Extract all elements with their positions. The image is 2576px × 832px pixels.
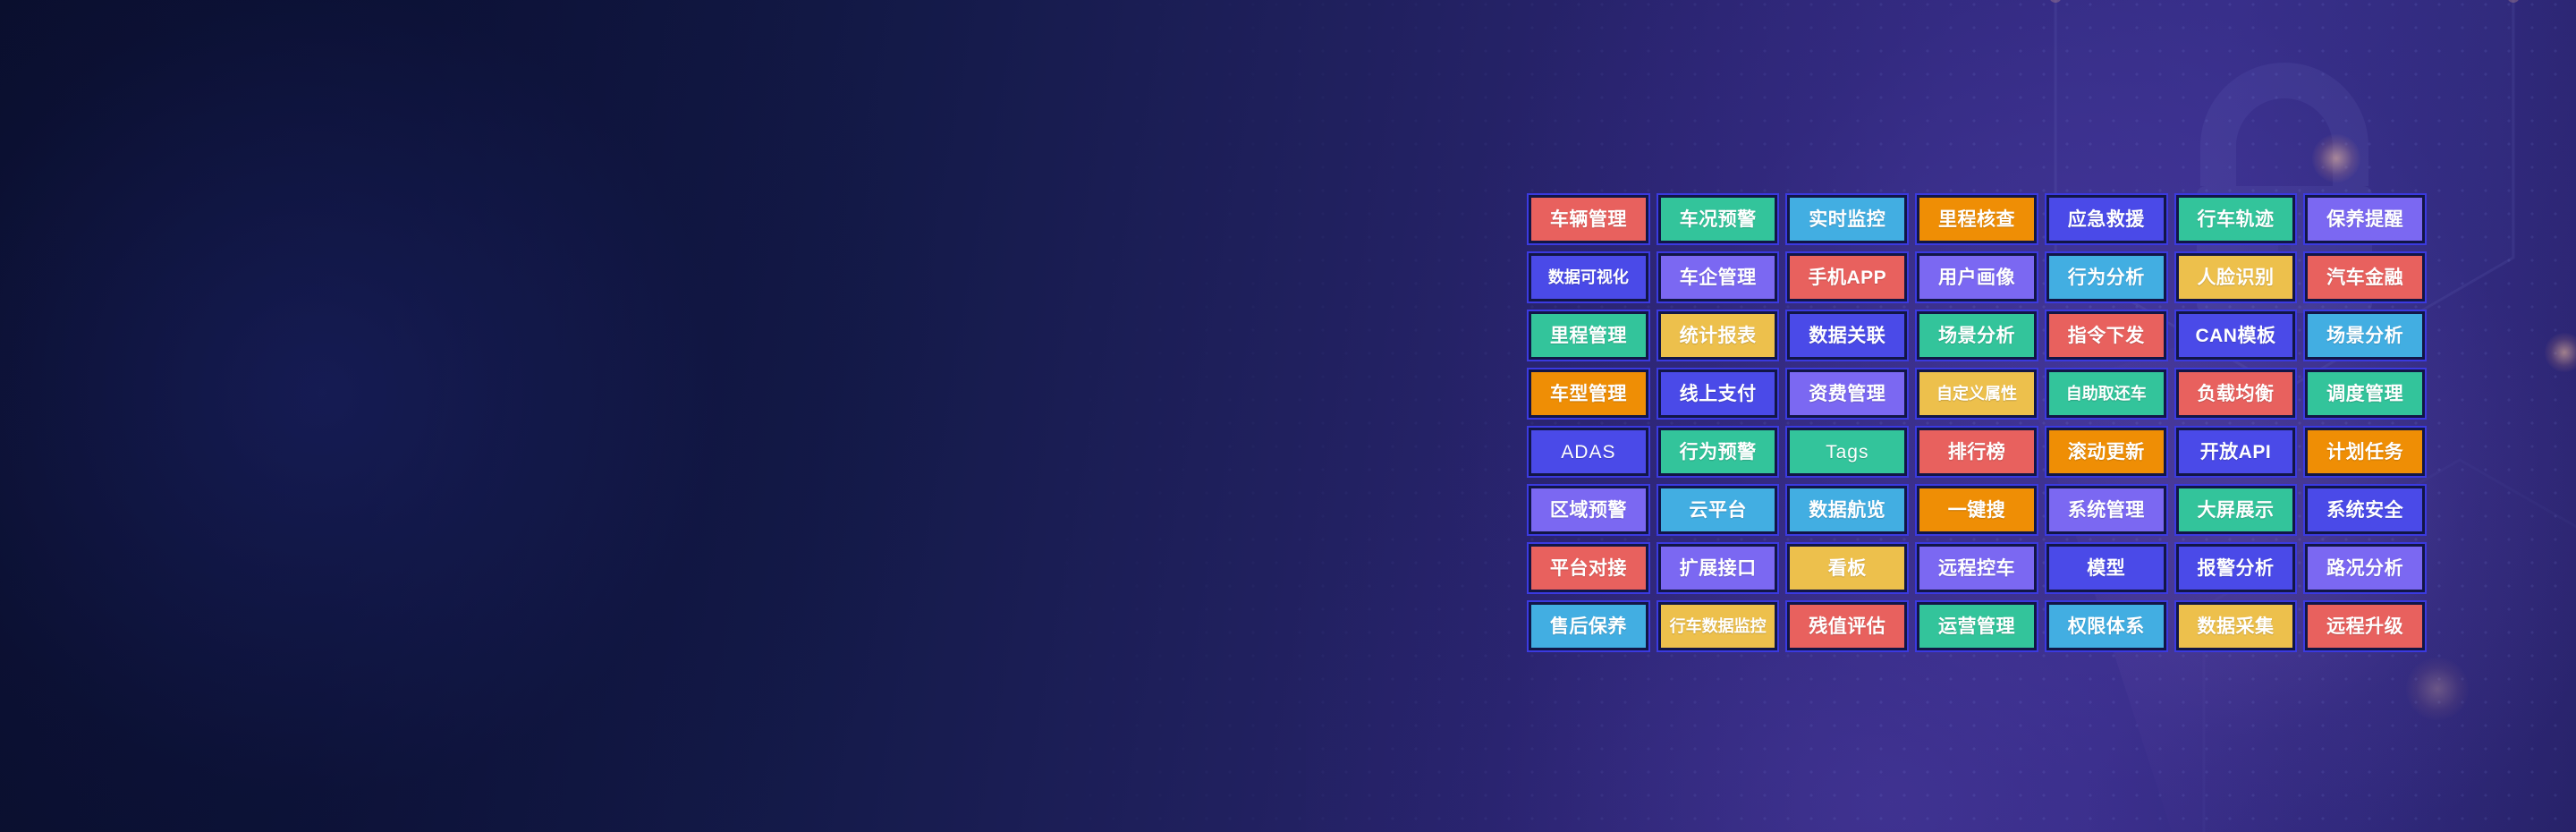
tag-chip-fill: 区域预警 xyxy=(1531,488,1646,531)
tag-row: 售后保养行车数据监控残值评估运营管理权限体系数据采集远程升级 xyxy=(1527,600,2427,652)
tag-chip-label: 应急救援 xyxy=(2068,210,2145,229)
tag-chip-fill: 行为分析 xyxy=(2049,256,2164,299)
tag-chip[interactable]: 手机APP xyxy=(1785,251,1909,303)
tag-chip-label: 里程管理 xyxy=(1550,327,1627,345)
tag-chip-fill: 指令下发 xyxy=(2049,314,2164,357)
tag-chip-fill: 自助取还车 xyxy=(2049,372,2164,415)
tag-chip-label: 报警分析 xyxy=(2197,559,2274,578)
tag-chip[interactable]: 场景分析 xyxy=(2303,310,2427,361)
tag-chip-fill: 里程管理 xyxy=(1531,314,1646,357)
tag-chip[interactable]: 售后保养 xyxy=(1527,600,1650,652)
tag-chip-fill: 车辆管理 xyxy=(1531,198,1646,241)
tag-chip[interactable]: 里程管理 xyxy=(1527,310,1650,361)
tag-chip-label: 路况分析 xyxy=(2326,559,2403,578)
tag-chip[interactable]: 行为预警 xyxy=(1657,426,1780,478)
tag-chip-label: 行车数据监控 xyxy=(1670,618,1767,634)
tag-chip-label: 指令下发 xyxy=(2068,327,2145,345)
tag-chip-label: 线上支付 xyxy=(1680,385,1757,403)
tag-grid: 车辆管理车况预警实时监控里程核查应急救援行车轨迹保养提醒数据可视化车企管理手机A… xyxy=(1527,193,2427,652)
tag-chip-fill: 权限体系 xyxy=(2049,605,2164,648)
tag-chip-fill: 用户画像 xyxy=(1919,256,2034,299)
tag-chip-label: 售后保养 xyxy=(1550,617,1627,636)
tag-chip-label: 行车轨迹 xyxy=(2197,210,2274,229)
tag-chip-fill: 残值评估 xyxy=(1790,605,1904,648)
tag-chip[interactable]: 负载均衡 xyxy=(2174,368,2298,420)
tag-chip-fill: 数据关联 xyxy=(1790,314,1904,357)
tag-chip[interactable]: 扩展接口 xyxy=(1657,542,1780,594)
tag-chip-fill: 车况预警 xyxy=(1661,198,1775,241)
tag-chip-label: 资费管理 xyxy=(1809,385,1885,403)
tag-chip[interactable]: 计划任务 xyxy=(2303,426,2427,478)
tag-chip[interactable]: 应急救援 xyxy=(2045,193,2168,245)
tag-chip-fill: 路况分析 xyxy=(2308,547,2422,590)
tag-chip-fill: 滚动更新 xyxy=(2049,430,2164,473)
tag-chip-label: 看板 xyxy=(1828,559,1867,578)
tag-chip-fill: 统计报表 xyxy=(1661,314,1775,357)
tag-chip-fill: 场景分析 xyxy=(2308,314,2422,357)
tag-row: 里程管理统计报表数据关联场景分析指令下发CAN模板场景分析 xyxy=(1527,310,2427,361)
tag-chip[interactable]: 自定义属性 xyxy=(1915,368,2038,420)
tag-chip-label: 计划任务 xyxy=(2326,443,2403,462)
tag-chip[interactable]: 残值评估 xyxy=(1785,600,1909,652)
tag-chip[interactable]: 看板 xyxy=(1785,542,1909,594)
tag-chip-fill: 汽车金融 xyxy=(2308,256,2422,299)
tag-chip-fill: CAN模板 xyxy=(2179,314,2293,357)
tag-chip-label: 实时监控 xyxy=(1809,210,1885,229)
tag-chip[interactable]: 开放API xyxy=(2174,426,2298,478)
tag-chip-fill: 远程升级 xyxy=(2308,605,2422,648)
tag-chip-label: 人脸识别 xyxy=(2197,268,2274,287)
tag-chip[interactable]: 人脸识别 xyxy=(2174,251,2298,303)
tag-chip-fill: 行为预警 xyxy=(1661,430,1775,473)
tag-chip[interactable]: 数据可视化 xyxy=(1527,251,1650,303)
tag-chip[interactable]: 指令下发 xyxy=(2045,310,2168,361)
tag-chip-label: 系统安全 xyxy=(2326,501,2403,520)
tag-chip-fill: Tags xyxy=(1790,430,1904,473)
tag-chip[interactable]: 用户画像 xyxy=(1915,251,2038,303)
tag-chip-label: 残值评估 xyxy=(1809,617,1885,636)
tag-chip-label: 运营管理 xyxy=(1938,617,2015,636)
tag-chip-label: 数据采集 xyxy=(2197,617,2274,636)
tag-chip[interactable]: 里程核查 xyxy=(1915,193,2038,245)
tag-chip-fill: 调度管理 xyxy=(2308,372,2422,415)
tag-chip[interactable]: 实时监控 xyxy=(1785,193,1909,245)
tag-chip[interactable]: 场景分析 xyxy=(1915,310,2038,361)
tag-chip-label: 行为分析 xyxy=(2068,268,2145,287)
tag-chip-label: 开放API xyxy=(2200,443,2272,462)
tag-chip-fill: 远程控车 xyxy=(1919,547,2034,590)
tag-chip-label: 权限体系 xyxy=(2068,617,2145,636)
tag-chip-label: ADAS xyxy=(1561,443,1615,462)
tag-chip-label: 排行榜 xyxy=(1948,443,2006,462)
tag-chip-fill: 看板 xyxy=(1790,547,1904,590)
tag-chip[interactable]: 保养提醒 xyxy=(2303,193,2427,245)
tag-chip-label: 数据关联 xyxy=(1809,327,1885,345)
tag-chip-label: 平台对接 xyxy=(1550,559,1627,578)
tag-chip-fill: 应急救援 xyxy=(2049,198,2164,241)
tag-chip-fill: 行车数据监控 xyxy=(1661,605,1775,648)
tag-row: 车型管理线上支付资费管理自定义属性自助取还车负载均衡调度管理 xyxy=(1527,368,2427,420)
tag-chip-fill: 开放API xyxy=(2179,430,2293,473)
tag-chip-label: CAN模板 xyxy=(2195,327,2275,345)
tag-chip[interactable]: 大屏展示 xyxy=(2174,484,2298,536)
tag-row: 区域预警云平台数据航览一键搜系统管理大屏展示系统安全 xyxy=(1527,484,2427,536)
tag-chip-label: 远程控车 xyxy=(1938,559,2015,578)
tag-chip[interactable]: 路况分析 xyxy=(2303,542,2427,594)
tag-chip[interactable]: 远程控车 xyxy=(1915,542,2038,594)
tag-chip-fill: 保养提醒 xyxy=(2308,198,2422,241)
tag-chip-fill: 实时监控 xyxy=(1790,198,1904,241)
tag-chip-fill: 报警分析 xyxy=(2179,547,2293,590)
tag-chip[interactable]: 模型 xyxy=(2045,542,2168,594)
tag-chip-fill: 计划任务 xyxy=(2308,430,2422,473)
tag-chip-label: 车企管理 xyxy=(1680,268,1757,287)
tag-chip-label: 远程升级 xyxy=(2326,617,2403,636)
tag-chip[interactable]: 区域预警 xyxy=(1527,484,1650,536)
tag-chip[interactable]: 平台对接 xyxy=(1527,542,1650,594)
tag-chip[interactable]: ADAS xyxy=(1527,426,1650,478)
tag-chip[interactable]: Tags xyxy=(1785,426,1909,478)
tag-chip-label: 场景分析 xyxy=(2326,327,2403,345)
tag-chip[interactable]: 云平台 xyxy=(1657,484,1780,536)
tag-chip-label: 系统管理 xyxy=(2068,501,2145,520)
background-spark-c xyxy=(2406,658,2469,720)
tag-chip-fill: 一键搜 xyxy=(1919,488,2034,531)
tag-chip-fill: 扩展接口 xyxy=(1661,547,1775,590)
tag-chip-label: 里程核查 xyxy=(1938,210,2015,229)
tag-chip-fill: 系统安全 xyxy=(2308,488,2422,531)
tag-chip-label: 汽车金融 xyxy=(2326,268,2403,287)
tag-chip[interactable]: 行为分析 xyxy=(2045,251,2168,303)
tag-chip[interactable]: 数据航览 xyxy=(1785,484,1909,536)
tag-chip-fill: 人脸识别 xyxy=(2179,256,2293,299)
tag-chip-label: Tags xyxy=(1826,443,1868,462)
tag-chip-fill: 资费管理 xyxy=(1790,372,1904,415)
tag-chip[interactable]: 汽车金融 xyxy=(2303,251,2427,303)
tag-chip-fill: 车企管理 xyxy=(1661,256,1775,299)
tag-chip[interactable]: 滚动更新 xyxy=(2045,426,2168,478)
tag-chip[interactable]: 运营管理 xyxy=(1915,600,2038,652)
tag-chip-fill: 数据航览 xyxy=(1790,488,1904,531)
tag-chip[interactable]: 排行榜 xyxy=(1915,426,2038,478)
tag-chip[interactable]: 系统管理 xyxy=(2045,484,2168,536)
tag-chip-label: 调度管理 xyxy=(2326,385,2403,403)
tag-chip-fill: 行车轨迹 xyxy=(2179,198,2293,241)
tag-chip-label: 数据航览 xyxy=(1809,501,1885,520)
tag-chip[interactable]: 车况预警 xyxy=(1657,193,1780,245)
tag-chip[interactable]: 资费管理 xyxy=(1785,368,1909,420)
tag-chip-fill: 负载均衡 xyxy=(2179,372,2293,415)
tag-chip-fill: 排行榜 xyxy=(1919,430,2034,473)
background-glow-left xyxy=(0,0,948,832)
tag-chip-label: 车辆管理 xyxy=(1550,210,1627,229)
tag-chip-label: 区域预警 xyxy=(1550,501,1627,520)
tag-chip[interactable]: 远程升级 xyxy=(2303,600,2427,652)
tag-chip[interactable]: 系统安全 xyxy=(2303,484,2427,536)
tag-chip-label: 云平台 xyxy=(1689,501,1747,520)
tag-row: 数据可视化车企管理手机APP用户画像行为分析人脸识别汽车金融 xyxy=(1527,251,2427,303)
tag-chip[interactable]: CAN模板 xyxy=(2174,310,2298,361)
tag-chip-fill: 自定义属性 xyxy=(1919,372,2034,415)
tag-chip-fill: 线上支付 xyxy=(1661,372,1775,415)
tag-chip-fill: ADAS xyxy=(1531,430,1646,473)
tag-chip[interactable]: 权限体系 xyxy=(2045,600,2168,652)
tag-chip-fill: 云平台 xyxy=(1661,488,1775,531)
tag-chip-fill: 场景分析 xyxy=(1919,314,2034,357)
tag-chip-fill: 大屏展示 xyxy=(2179,488,2293,531)
tag-chip-label: 场景分析 xyxy=(1938,327,2015,345)
tag-chip[interactable]: 车辆管理 xyxy=(1527,193,1650,245)
tag-chip-label: 滚动更新 xyxy=(2068,443,2145,462)
tag-chip-fill: 平台对接 xyxy=(1531,547,1646,590)
tag-chip-label: 负载均衡 xyxy=(2197,385,2274,403)
tag-chip[interactable]: 行车数据监控 xyxy=(1657,600,1780,652)
tag-chip-fill: 运营管理 xyxy=(1919,605,2034,648)
tag-chip-fill: 数据采集 xyxy=(2179,605,2293,648)
background-spark-a xyxy=(2312,134,2360,183)
tag-chip-label: 保养提醒 xyxy=(2326,210,2403,229)
tag-row: 车辆管理车况预警实时监控里程核查应急救援行车轨迹保养提醒 xyxy=(1527,193,2427,245)
tag-chip-label: 车况预警 xyxy=(1680,210,1757,229)
screen-canvas: 车辆管理车况预警实时监控里程核查应急救援行车轨迹保养提醒数据可视化车企管理手机A… xyxy=(0,0,2576,832)
tag-chip[interactable]: 报警分析 xyxy=(2174,542,2298,594)
tag-chip[interactable]: 自助取还车 xyxy=(2045,368,2168,420)
tag-chip-label: 自定义属性 xyxy=(1936,386,2017,402)
tag-chip[interactable]: 车企管理 xyxy=(1657,251,1780,303)
tag-chip-label: 用户画像 xyxy=(1938,268,2015,287)
tag-chip-fill: 手机APP xyxy=(1790,256,1904,299)
tag-chip[interactable]: 一键搜 xyxy=(1915,484,2038,536)
tag-row: ADAS行为预警Tags排行榜滚动更新开放API计划任务 xyxy=(1527,426,2427,478)
tag-chip[interactable]: 调度管理 xyxy=(2303,368,2427,420)
tag-chip-fill: 数据可视化 xyxy=(1531,256,1646,299)
tag-chip-label: 车型管理 xyxy=(1550,385,1627,403)
tag-chip-label: 模型 xyxy=(2087,559,2125,578)
tag-chip-label: 数据可视化 xyxy=(1548,269,1629,285)
tag-chip[interactable]: 统计报表 xyxy=(1657,310,1780,361)
tag-chip-fill: 系统管理 xyxy=(2049,488,2164,531)
tag-chip-fill: 车型管理 xyxy=(1531,372,1646,415)
tag-chip[interactable]: 行车轨迹 xyxy=(2174,193,2298,245)
tag-chip-label: 自助取还车 xyxy=(2066,386,2147,402)
tag-chip[interactable]: 线上支付 xyxy=(1657,368,1780,420)
tag-chip[interactable]: 数据关联 xyxy=(1785,310,1909,361)
tag-chip-label: 行为预警 xyxy=(1680,443,1757,462)
tag-chip-fill: 模型 xyxy=(2049,547,2164,590)
tag-chip-label: 大屏展示 xyxy=(2197,501,2274,520)
tag-chip[interactable]: 车型管理 xyxy=(1527,368,1650,420)
tag-chip[interactable]: 数据采集 xyxy=(2174,600,2298,652)
tag-chip-label: 统计报表 xyxy=(1680,327,1757,345)
tag-row: 平台对接扩展接口看板远程控车模型报警分析路况分析 xyxy=(1527,542,2427,594)
tag-chip-label: 手机APP xyxy=(1808,268,1886,287)
tag-chip-fill: 售后保养 xyxy=(1531,605,1646,648)
tag-chip-label: 扩展接口 xyxy=(1680,559,1757,578)
tag-chip-label: 一键搜 xyxy=(1948,501,2006,520)
tag-chip-fill: 里程核查 xyxy=(1919,198,2034,241)
